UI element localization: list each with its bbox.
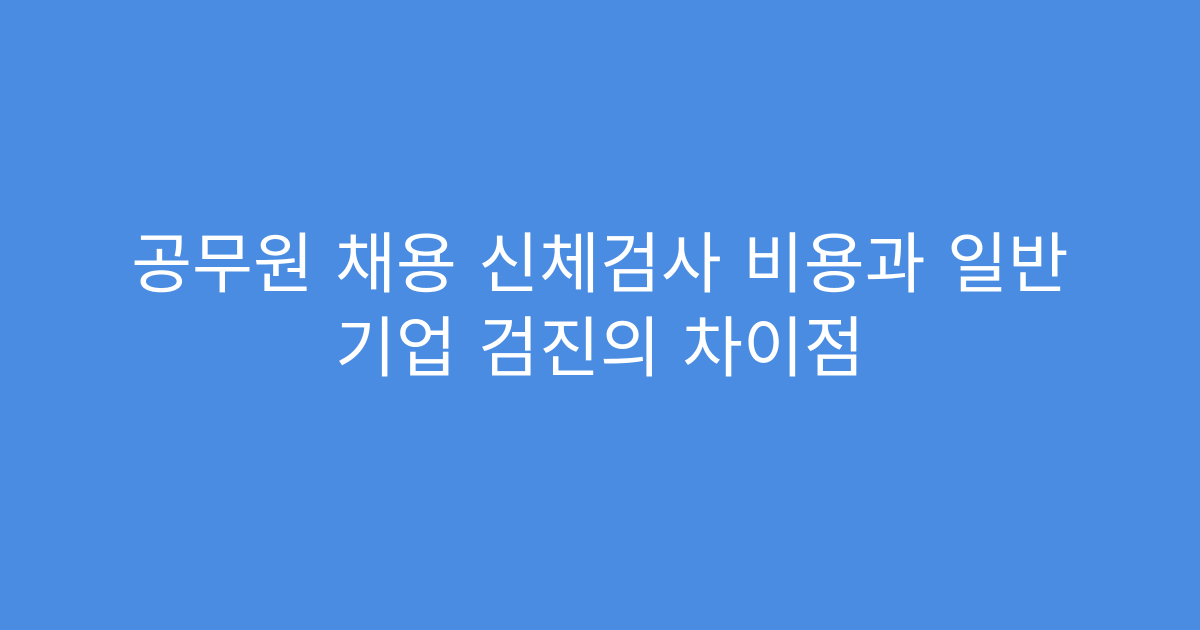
- page-title: 공무원 채용 신체검사 비용과 일반 기업 검진의 차이점: [90, 223, 1110, 391]
- og-title-card: 공무원 채용 신체검사 비용과 일반 기업 검진의 차이점: [0, 0, 1200, 630]
- title-block: 공무원 채용 신체검사 비용과 일반 기업 검진의 차이점: [70, 223, 1130, 391]
